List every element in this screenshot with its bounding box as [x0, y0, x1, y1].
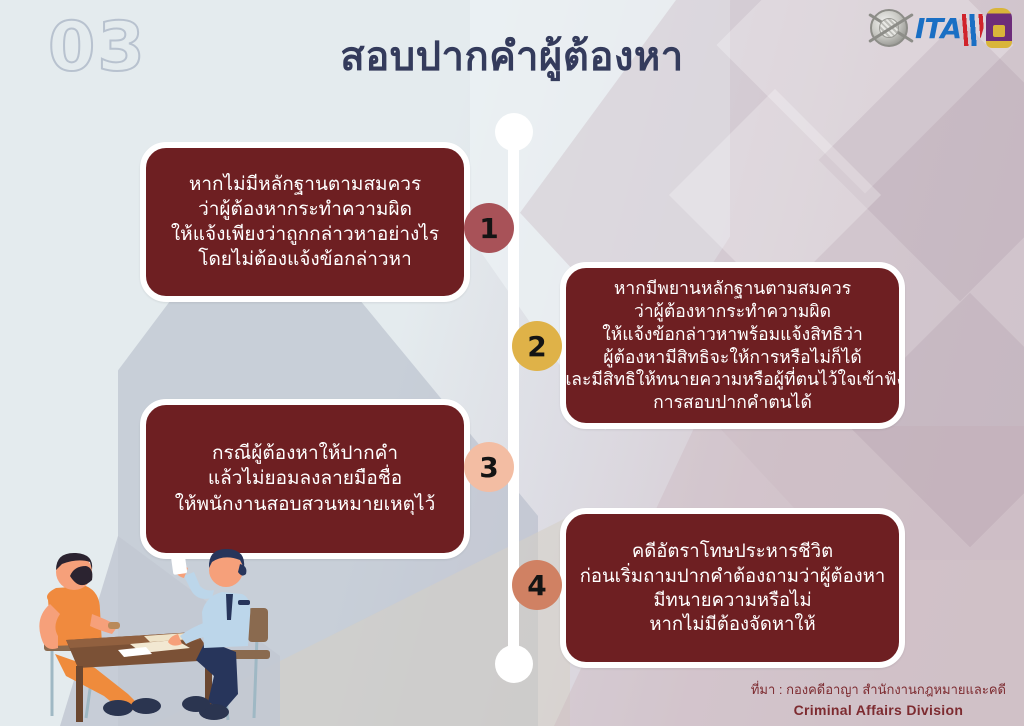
- step-card-4-line-1: คดีอัตราโทษประหารชีวิต: [632, 539, 833, 563]
- step-card-3[interactable]: กรณีผู้ต้องหาให้ปากคำ แล้วไม่ยอมลงลายมือ…: [140, 399, 470, 559]
- step-card-3-line-1: กรณีผู้ต้องหาให้ปากคำ: [212, 441, 398, 466]
- police-interrogation-illustration: [0, 536, 280, 726]
- timeline-top-cap: [495, 113, 533, 151]
- step-badge-2[interactable]: 2: [512, 321, 562, 371]
- step-card-1[interactable]: หากไม่มีหลักฐานตามสมควร ว่าผู้ต้องหากระท…: [140, 142, 470, 302]
- step-badge-4[interactable]: 4: [512, 560, 562, 610]
- step-card-2[interactable]: หากมีพยานหลักฐานตามสมควร ว่าผู้ต้องหากระ…: [560, 262, 905, 429]
- step-card-2-line-3: ให้แจ้งข้อกล่าวหาพร้อมแจ้งสิทธิว่า: [602, 323, 863, 346]
- ita-logo: ITA: [915, 12, 979, 45]
- source-credit: ที่มา : กองคดีอาญา สำนักงานกฎหมายและคดี …: [751, 681, 1006, 720]
- step-card-4-line-4: หากไม่มีต้องจัดหาให้: [649, 612, 815, 636]
- step-card-1-line-2: ว่าผู้ต้องหากระทำความผิด: [198, 197, 412, 222]
- step-card-2-line-2: ว่าผู้ต้องหากระทำความผิด: [634, 300, 831, 323]
- step-card-2-line-6: การสอบปากคำตนได้: [653, 391, 812, 414]
- step-card-2-line-4: ผู้ต้องหามีสิทธิจะให้การหรือไม่ก็ได้: [603, 346, 862, 369]
- step-badge-1[interactable]: 1: [464, 203, 514, 253]
- timeline-bottom-cap: [495, 645, 533, 683]
- royal-thai-police-emblem-logo: [986, 8, 1012, 48]
- step-card-3-line-2: แล้วไม่ยอมลงลายมือชื่อ: [208, 466, 402, 491]
- police-emblem-logo: [870, 9, 908, 47]
- step-card-1-line-1: หากไม่มีหลักฐานตามสมควร: [189, 172, 421, 197]
- logo-group: ITA: [870, 8, 1012, 48]
- source-credit-english: Criminal Affairs Division: [751, 700, 1006, 720]
- step-card-1-line-3: ให้แจ้งเพียงว่าถูกกล่าวหาอย่างไร: [171, 222, 439, 247]
- step-card-1-line-4: โดยไม่ต้องแจ้งข้อกล่าวหา: [198, 247, 412, 272]
- source-credit-thai: ที่มา : กองคดีอาญา สำนักงานกฎหมายและคดี: [751, 681, 1006, 700]
- step-badge-3[interactable]: 3: [464, 442, 514, 492]
- step-card-3-line-3: ให้พนักงานสอบสวนหมายเหตุไว้: [175, 492, 436, 517]
- step-card-2-line-1: หากมีพยานหลักฐานตามสมควร: [614, 277, 851, 300]
- step-card-2-line-5: และมีสิทธิให้ทนายความหรือผู้ที่ตนไว้ใจเข…: [560, 368, 905, 391]
- step-card-4-line-2: ก่อนเริ่มถามปากคำต้องถามว่าผู้ต้องหา: [580, 564, 886, 588]
- infographic-canvas: 03 สอบปากคำผู้ต้องหา ITA 1 2 3 4 หากไม่ม…: [0, 0, 1024, 726]
- step-card-4-line-3: มีทนายความหรือไม่: [653, 588, 811, 612]
- step-card-4[interactable]: คดีอัตราโทษประหารชีวิต ก่อนเริ่มถามปากคำ…: [560, 508, 905, 668]
